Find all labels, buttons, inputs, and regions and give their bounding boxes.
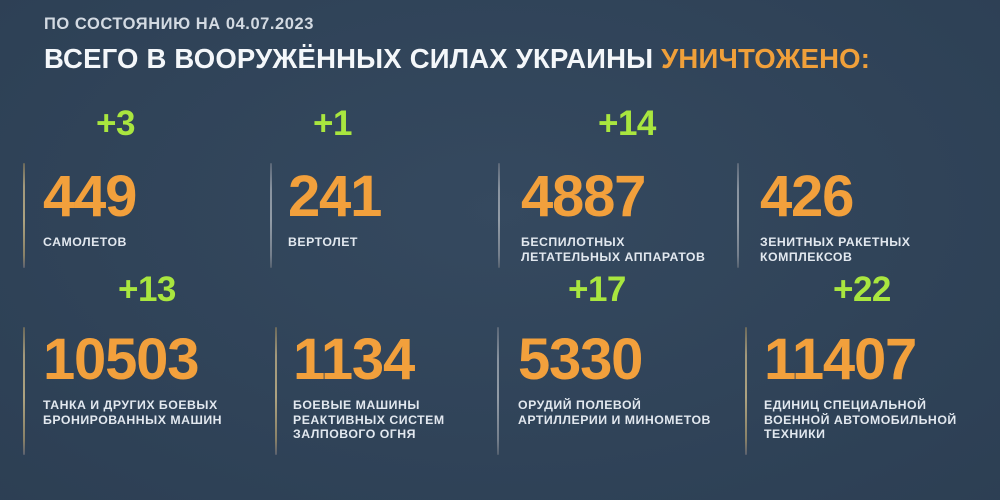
- stat-delta-badge-2: +14: [598, 106, 656, 141]
- stat-divider-5: [275, 327, 277, 455]
- stat-value-1: 241: [288, 168, 381, 226]
- stat-value-4: 10503: [43, 331, 222, 389]
- stat-block-aircraft: 449 САМОЛЕТОВ: [43, 168, 136, 250]
- stat-divider-0: [23, 163, 25, 268]
- stat-caption-6: ОРУДИЙ ПОЛЕВОЙ АРТИЛЛЕРИИ И МИНОМЕТОВ: [518, 398, 711, 427]
- stat-value-5: 1134: [293, 331, 445, 389]
- stat-block-artillery: 5330 ОРУДИЙ ПОЛЕВОЙ АРТИЛЛЕРИИ И МИНОМЕТ…: [518, 331, 711, 427]
- stat-block-sam: 426 ЗЕНИТНЫХ РАКЕТНЫХ КОМПЛЕКСОВ: [760, 168, 911, 264]
- stat-block-uav: 4887 БЕСПИЛОТНЫХ ЛЕТАТЕЛЬНЫХ АППАРАТОВ: [521, 168, 705, 264]
- page-title-accent: УНИЧТОЖЕНО:: [661, 43, 870, 74]
- stat-value-6: 5330: [518, 331, 711, 389]
- page-title-main: ВСЕГО В ВООРУЖЁННЫХ СИЛАХ УКРАИНЫ: [44, 43, 653, 74]
- stat-divider-6: [497, 327, 499, 455]
- stat-divider-3: [737, 163, 739, 268]
- stat-block-vehicles: 11407 ЕДИНИЦ СПЕЦИАЛЬНОЙ ВОЕННОЙ АВТОМОБ…: [764, 331, 957, 442]
- stat-delta-badge-6: +17: [568, 272, 626, 307]
- stat-divider-1: [270, 163, 272, 268]
- stat-delta-badge-4: +13: [118, 272, 176, 307]
- stat-value-0: 449: [43, 168, 136, 226]
- stat-divider-2: [498, 163, 500, 268]
- stat-delta-badge-1: +1: [313, 106, 352, 141]
- stat-divider-4: [23, 327, 25, 455]
- header: ПО СОСТОЯНИЮ НА 04.07.2023 ВСЕГО В ВООРУ…: [44, 14, 870, 75]
- stat-block-tanks: 10503 ТАНКА И ДРУГИХ БОЕВЫХ БРОНИРОВАННЫ…: [43, 331, 222, 427]
- stat-delta-badge-0: +3: [96, 106, 135, 141]
- stat-caption-1: ВЕРТОЛЕТ: [288, 235, 381, 250]
- stat-caption-0: САМОЛЕТОВ: [43, 235, 136, 250]
- stat-caption-5: БОЕВЫЕ МАШИНЫ РЕАКТИВНЫХ СИСТЕМ ЗАЛПОВОГ…: [293, 398, 445, 442]
- stat-delta-badge-7: +22: [833, 272, 891, 307]
- stat-caption-2: БЕСПИЛОТНЫХ ЛЕТАТЕЛЬНЫХ АППАРАТОВ: [521, 235, 705, 264]
- report-date: ПО СОСТОЯНИЮ НА 04.07.2023: [44, 14, 870, 34]
- stat-caption-3: ЗЕНИТНЫХ РАКЕТНЫХ КОМПЛЕКСОВ: [760, 235, 911, 264]
- stat-value-3: 426: [760, 168, 911, 226]
- stat-block-helicopters: 241 ВЕРТОЛЕТ: [288, 168, 381, 250]
- stat-caption-4: ТАНКА И ДРУГИХ БОЕВЫХ БРОНИРОВАННЫХ МАШИ…: [43, 398, 222, 427]
- page-title: ВСЕГО В ВООРУЖЁННЫХ СИЛАХ УКРАИНЫ УНИЧТО…: [44, 43, 870, 75]
- stat-block-mlrs: 1134 БОЕВЫЕ МАШИНЫ РЕАКТИВНЫХ СИСТЕМ ЗАЛ…: [293, 331, 445, 442]
- stat-value-7: 11407: [764, 331, 957, 389]
- infographic-board: ПО СОСТОЯНИЮ НА 04.07.2023 ВСЕГО В ВООРУ…: [0, 0, 1000, 500]
- stat-caption-7: ЕДИНИЦ СПЕЦИАЛЬНОЙ ВОЕННОЙ АВТОМОБИЛЬНОЙ…: [764, 398, 957, 442]
- stat-value-2: 4887: [521, 168, 705, 226]
- stat-divider-7: [745, 327, 747, 455]
